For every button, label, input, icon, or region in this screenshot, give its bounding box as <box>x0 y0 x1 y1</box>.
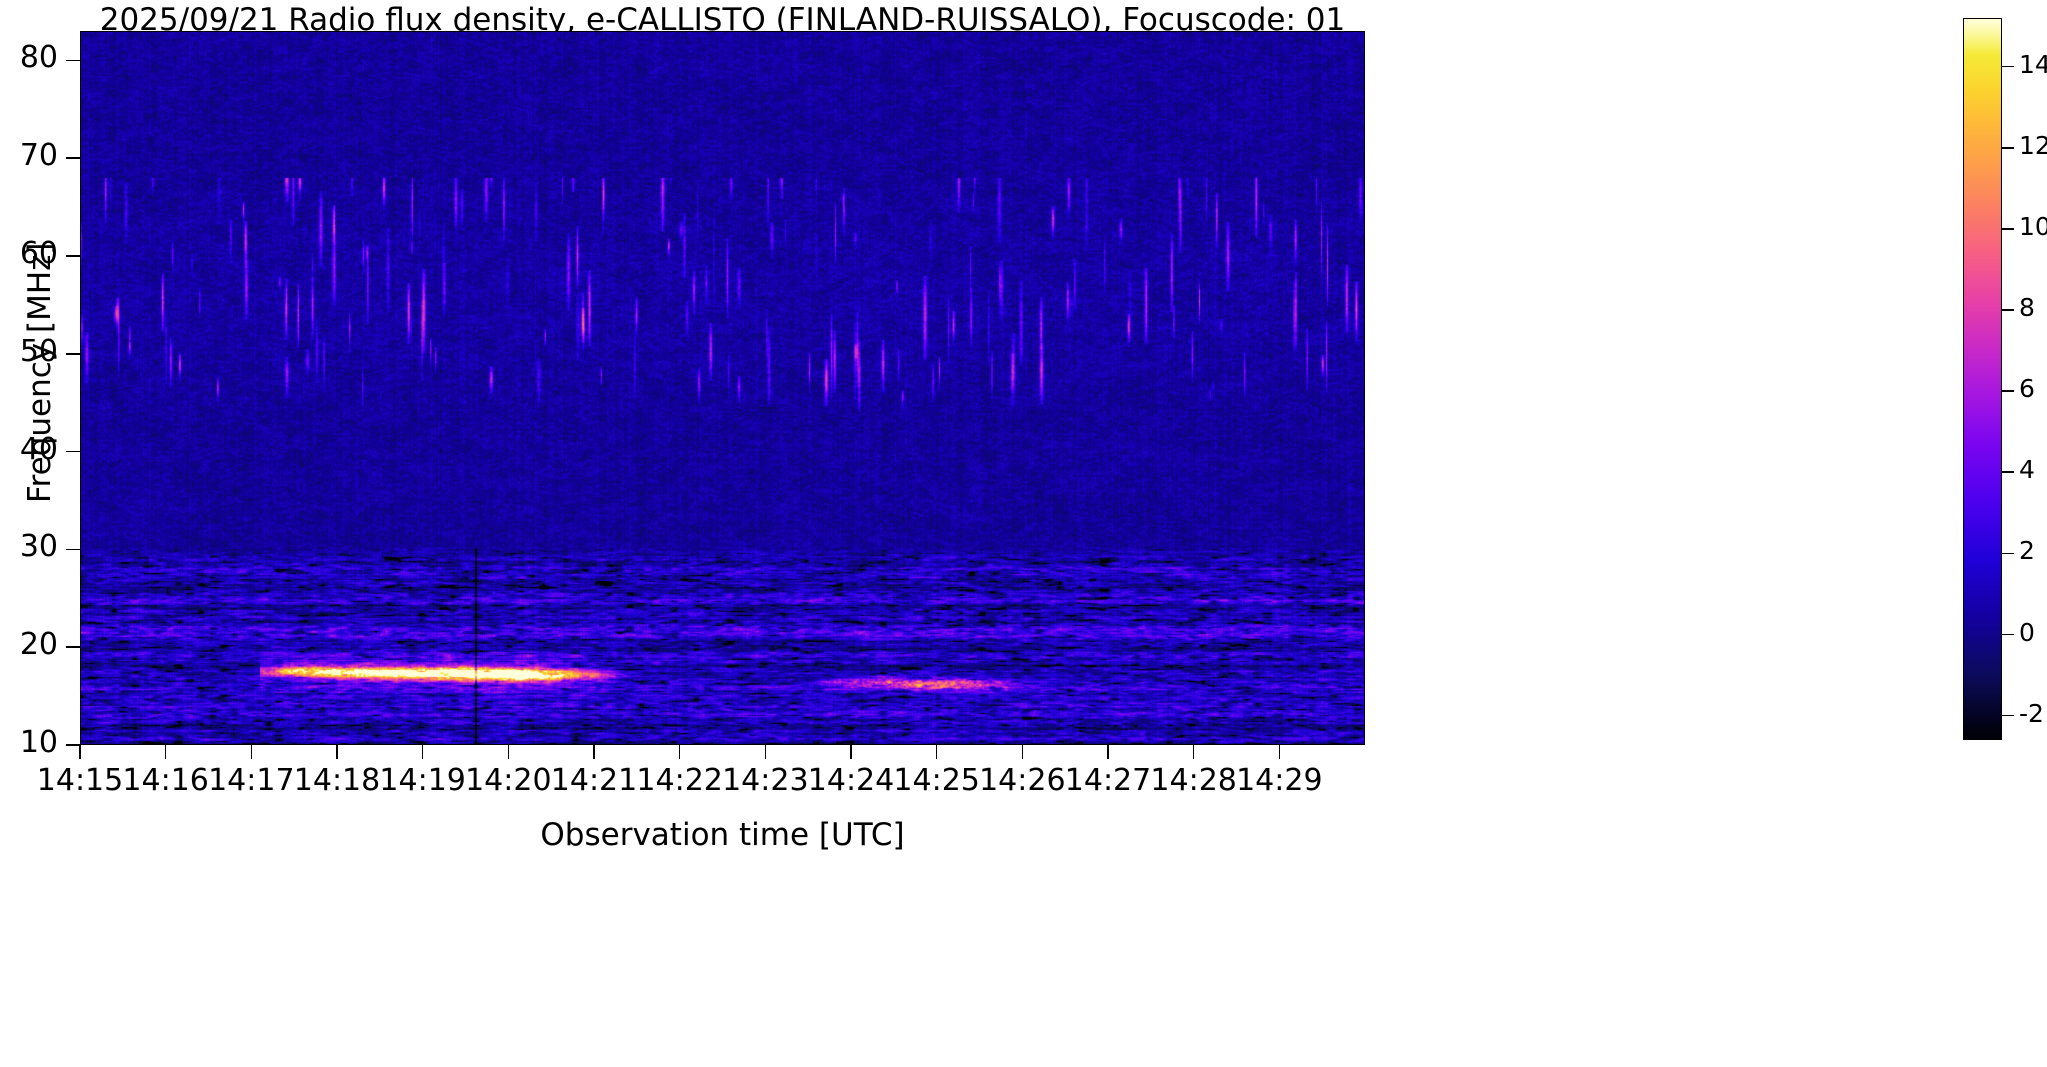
colorbar-tick-label: 6 <box>2019 374 2035 403</box>
y-tick <box>66 646 80 648</box>
x-tick <box>422 745 424 759</box>
x-tick <box>1279 745 1281 759</box>
colorbar-tick-label: 14 <box>2019 50 2047 79</box>
colorbar-tick <box>2002 228 2014 230</box>
colorbar-tick-label: 4 <box>2019 455 2035 484</box>
y-tick <box>66 549 80 551</box>
colorbar-tick <box>2002 309 2014 311</box>
colorbar-tick <box>2002 147 2014 149</box>
colorbar-tick <box>2002 553 2014 555</box>
x-tick <box>593 745 595 759</box>
x-tick <box>336 745 338 759</box>
x-tick <box>850 745 852 759</box>
y-tick <box>66 451 80 453</box>
y-tick <box>66 353 80 355</box>
colorbar-tick-label: 10 <box>2019 212 2047 241</box>
y-tick-label: 10 <box>0 725 58 760</box>
y-tick-label: 80 <box>0 40 58 75</box>
colorbar-tick <box>2002 471 2014 473</box>
x-tick <box>251 745 253 759</box>
colorbar-tick-label: -2 <box>2019 699 2044 728</box>
x-tick <box>1022 745 1024 759</box>
colorbar[interactable] <box>1963 18 2002 740</box>
colorbar-tick-label: 8 <box>2019 293 2035 322</box>
x-axis-label: Observation time [UTC] <box>80 817 1365 853</box>
spectrogram-image <box>80 31 1365 745</box>
spectrogram-plot[interactable] <box>80 31 1365 745</box>
x-tick <box>936 745 938 759</box>
x-tick <box>79 745 81 759</box>
y-tick-label: 30 <box>0 529 58 564</box>
x-tick <box>508 745 510 759</box>
x-tick <box>1107 745 1109 759</box>
y-tick <box>66 157 80 159</box>
y-axis-label: Frequency [MHz] <box>22 242 58 503</box>
y-tick <box>66 255 80 257</box>
colorbar-tick-label: 12 <box>2019 131 2047 160</box>
x-tick <box>679 745 681 759</box>
colorbar-tick <box>2002 66 2014 68</box>
y-tick <box>66 60 80 62</box>
colorbar-tick-label: 0 <box>2019 618 2035 647</box>
y-tick <box>66 744 80 746</box>
spectrogram-figure: 2025/09/21 Radio flux density, e-CALLIST… <box>0 0 2047 1067</box>
x-tick <box>1193 745 1195 759</box>
y-tick-label: 70 <box>0 138 58 173</box>
colorbar-tick <box>2002 715 2014 717</box>
colorbar-tick-label: 2 <box>2019 536 2035 565</box>
x-tick <box>765 745 767 759</box>
x-tick-label: 14:29 <box>1209 763 1349 798</box>
y-tick-label: 20 <box>0 627 58 662</box>
colorbar-tick <box>2002 634 2014 636</box>
colorbar-tick <box>2002 390 2014 392</box>
x-tick <box>165 745 167 759</box>
